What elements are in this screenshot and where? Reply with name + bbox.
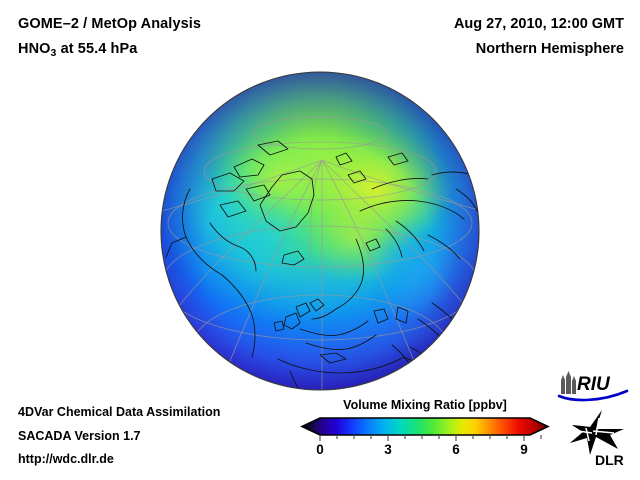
globe-color-field — [161, 72, 479, 390]
colorbar-tick-label-3: 3 — [384, 442, 392, 457]
colorbar-tick-label-6: 6 — [452, 442, 460, 457]
riu-logo: RIU — [557, 369, 629, 403]
region-label: Northern Hemisphere — [454, 37, 624, 62]
species-level-label: HNO3 at 55.4 hPa — [18, 37, 201, 63]
riu-wordmark: RIU — [577, 374, 611, 395]
footer-line-1: 4DVar Chemical Data Assimilation — [18, 401, 220, 425]
header-left-block: GOME–2 / MetOp Analysis HNO3 at 55.4 hPa — [18, 12, 201, 63]
footer-credits: 4DVar Chemical Data Assimilation SACADA … — [18, 401, 220, 472]
datetime-label: Aug 27, 2010, 12:00 GMT — [454, 12, 624, 37]
header-right-block: Aug 27, 2010, 12:00 GMT Northern Hemisph… — [454, 12, 624, 62]
colorbar-title: Volume Mixing Ratio [ppbv] — [300, 398, 550, 412]
riu-tower-icon — [561, 371, 576, 394]
colorbar-gradient — [300, 417, 550, 441]
colorbar-tick-label-9: 9 — [520, 442, 528, 457]
colorbar-tick-label-0: 0 — [316, 442, 324, 457]
colorbar-ticks — [320, 435, 541, 441]
dlr-logo: DLR — [566, 409, 632, 471]
species-name: HNO — [18, 41, 51, 57]
dlr-wordmark: DLR — [595, 452, 624, 468]
colorbar: Volume Mixing Ratio [ppbv] — [300, 398, 550, 468]
footer-line-2: SACADA Version 1.7 — [18, 425, 220, 449]
species-subscript: 3 — [51, 48, 57, 59]
footer-line-3: http://wdc.dlr.de — [18, 448, 220, 472]
page-title: GOME–2 / MetOp Analysis — [18, 12, 201, 37]
globe-map — [160, 71, 480, 391]
species-level: at 55.4 hPa — [56, 41, 137, 57]
